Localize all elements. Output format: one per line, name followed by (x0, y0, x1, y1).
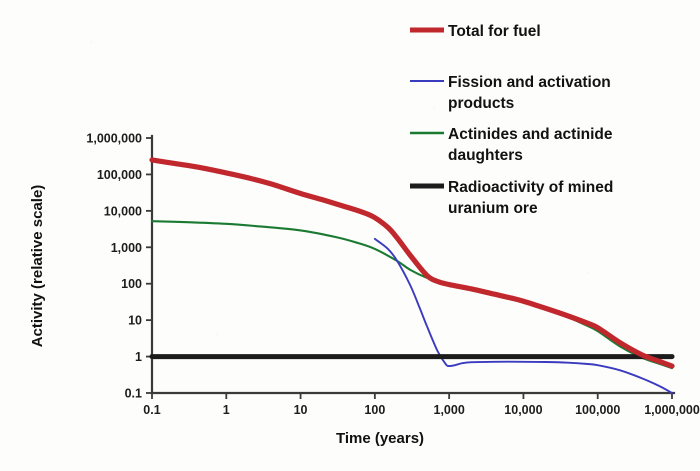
y-axis-title: Activity (relative scale) (29, 185, 46, 348)
y-tick-label: 1,000,000 (86, 132, 142, 146)
x-tick-label: 1 (223, 403, 230, 417)
y-tick-label: 10 (128, 314, 142, 328)
y-tick-label: 100,000 (97, 168, 142, 182)
legend-label-1: Total for fuel (448, 23, 541, 40)
x-tick-label: 100,000 (575, 403, 620, 417)
x-tick-label: 10,000 (504, 403, 542, 417)
x-tick-label: 1,000,000 (644, 403, 700, 417)
y-tick-label: 10,000 (104, 204, 142, 218)
chart-background (0, 0, 700, 471)
x-tick-label: 1,000 (434, 403, 465, 417)
y-tick-label: 1 (135, 350, 142, 364)
y-tick-label: 100 (121, 277, 142, 291)
y-tick-label: 1,000 (111, 241, 142, 255)
radioactivity-decay-chart: 0.11101001,00010,000100,0001,000,000 0.1… (0, 0, 700, 471)
x-tick-label: 100 (364, 403, 385, 417)
x-axis-title: Time (years) (336, 430, 424, 447)
y-tick-label: 0.1 (125, 387, 142, 401)
x-tick-label: 10 (294, 403, 308, 417)
x-tick-label: 0.1 (143, 403, 160, 417)
